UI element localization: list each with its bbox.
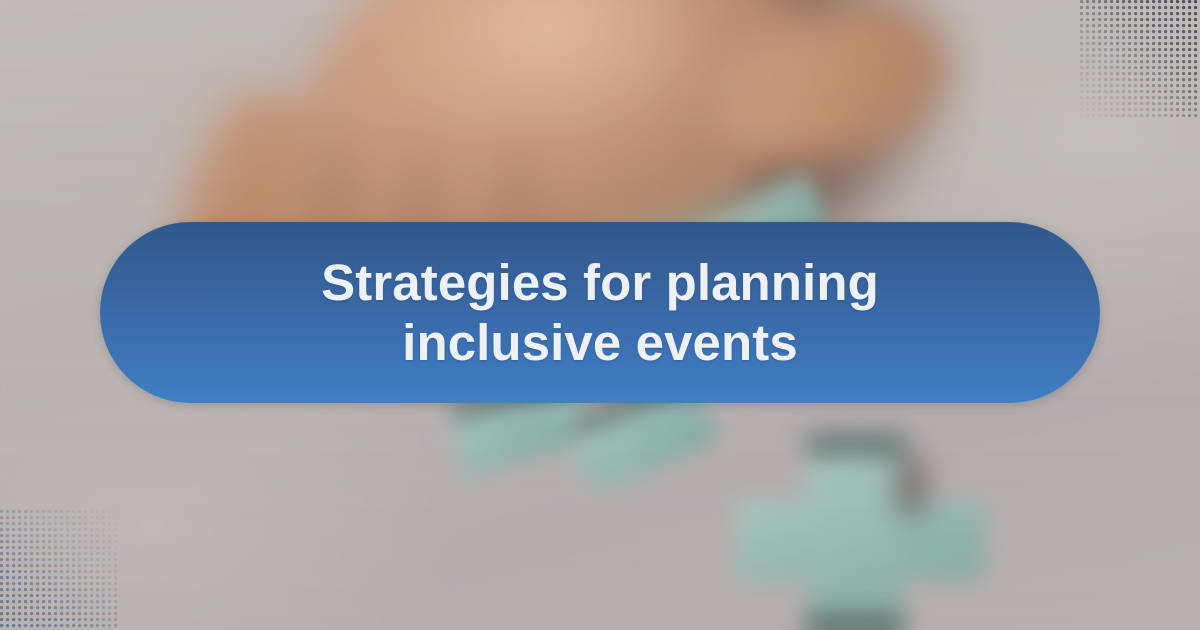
- page-title: Strategies for planning inclusive events: [251, 253, 949, 372]
- title-card: Strategies for planning inclusive events: [100, 222, 1100, 403]
- banner-canvas: Strategies for planning inclusive events: [0, 0, 1200, 630]
